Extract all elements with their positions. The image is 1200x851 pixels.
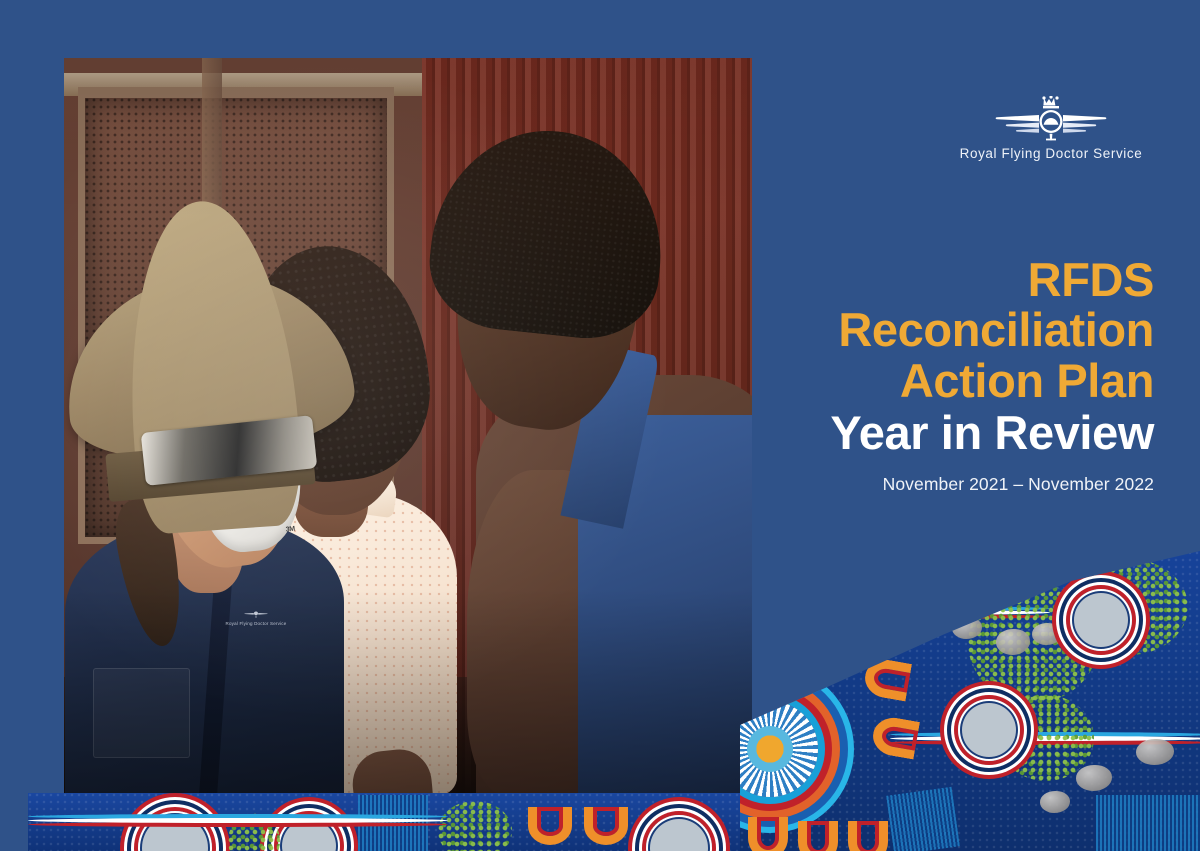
cover-title-block: RFDS Reconciliation Action Plan Year in … <box>734 255 1154 495</box>
title-line-reconciliation: Reconciliation <box>734 305 1154 355</box>
art-stone-motif <box>1040 791 1070 813</box>
art-stone-motif <box>1076 765 1112 791</box>
mask-brand-label: 3M <box>285 526 295 534</box>
art-stone-motif <box>996 629 1030 655</box>
art-bottom-strip <box>28 793 1200 851</box>
rfds-wings-icon: Royal Flying Doctor Service <box>229 599 283 636</box>
art-corner-panel <box>740 551 1200 851</box>
art-u-symbol <box>528 807 572 845</box>
nurse-shirt-logo-text: Royal Flying Doctor Service <box>226 621 287 626</box>
photo-figure-nurse: Royal Flying Doctor Service 3M <box>64 264 408 795</box>
art-dotted-pathway <box>750 610 1050 615</box>
art-green-cluster <box>228 813 280 851</box>
art-u-symbol <box>848 821 888 851</box>
art-hatching <box>358 795 428 851</box>
art-concentric-circle <box>138 811 212 851</box>
art-u-symbol <box>748 817 788 851</box>
art-stone-motif <box>1136 739 1174 765</box>
title-line-action-plan: Action Plan <box>734 356 1154 406</box>
art-dotted-pathway <box>890 736 1200 741</box>
nurse-shirt-pocket <box>93 668 190 758</box>
title-line-rfds: RFDS <box>734 255 1154 305</box>
art-hatching <box>1096 795 1200 851</box>
art-u-symbol <box>862 656 912 701</box>
rfds-winged-crown-emblem-icon <box>991 96 1111 142</box>
art-stone-motif <box>952 617 982 639</box>
art-concentric-circle <box>278 815 340 851</box>
art-concentric-circle <box>958 699 1020 761</box>
art-green-cluster <box>1070 559 1188 655</box>
art-hatching <box>886 787 960 851</box>
title-line-year-in-review: Year in Review <box>734 408 1154 458</box>
cover-page: Royal Flying Doctor Service 3M <box>0 0 1200 851</box>
art-concentric-circle <box>646 815 712 851</box>
art-green-cluster <box>998 695 1094 781</box>
art-dotted-pathway <box>28 818 448 823</box>
art-green-cluster <box>438 801 512 851</box>
art-u-symbol <box>870 714 920 759</box>
rfds-logo-text: Royal Flying Doctor Service <box>946 146 1156 161</box>
cover-date-range: November 2021 – November 2022 <box>734 474 1154 495</box>
art-u-symbol <box>798 821 838 851</box>
photo-scene: Royal Flying Doctor Service 3M <box>64 58 752 795</box>
art-concentric-circle <box>1070 589 1132 651</box>
art-u-symbol <box>584 807 628 845</box>
art-stone-motif <box>1032 623 1062 645</box>
rfds-logo: Royal Flying Doctor Service <box>946 96 1156 161</box>
cover-photo: Royal Flying Doctor Service 3M <box>64 58 752 795</box>
art-green-cluster <box>968 583 1098 703</box>
